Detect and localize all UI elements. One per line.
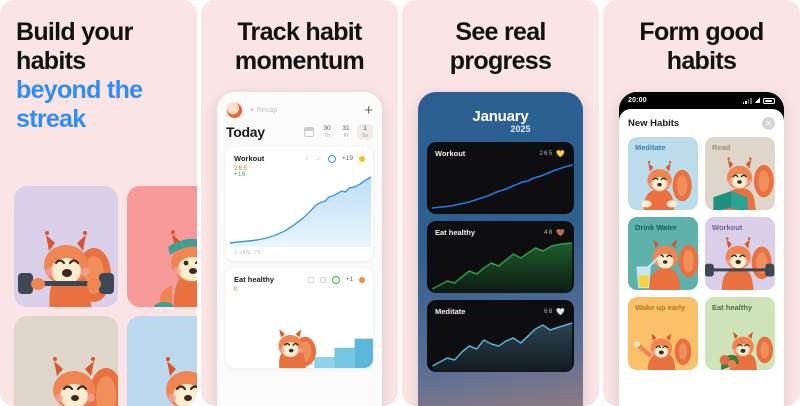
date-selector[interactable]: 30 Th 31 Fr 1 Sa (304, 124, 373, 140)
habit-tile-meditate (127, 316, 197, 406)
month-progress-screen: January 2025 Workout 265 💛 (418, 92, 583, 406)
date-number: 1 (357, 125, 373, 133)
squirrel-read-icon (708, 154, 775, 210)
value-number: 48 (544, 229, 553, 236)
workout-month-chart (427, 162, 574, 214)
squirrel-read-icon (28, 348, 118, 406)
habit-tile-run (127, 186, 197, 307)
squirrel-stairs-illustration (226, 298, 373, 368)
squirrel-workout-icon (16, 219, 116, 307)
cellular-signal-icon (743, 97, 752, 104)
habit-card-header: Eat healthy +1 (234, 275, 365, 284)
progress-card-header: Workout 265 💛 (435, 149, 566, 158)
habit-label: Drink Water (635, 223, 691, 232)
progress-card-eat-healthy[interactable]: Eat healthy 48 🤎 (427, 221, 574, 293)
month-label: January (427, 108, 574, 125)
habit-stat-value: 265 (234, 165, 365, 172)
phone-mockup-month: January 2025 Workout 265 💛 (418, 92, 583, 406)
new-habit-drink-water[interactable]: Drink Water (628, 217, 698, 290)
date-number: 31 (338, 125, 354, 133)
check-icon[interactable]: ✓ (304, 155, 310, 163)
headline-track-momentum: Track habit momentum (201, 0, 398, 76)
date-dow: Fr (338, 133, 354, 139)
recap-label: Recap (257, 107, 277, 114)
headline-line-4: streak (16, 105, 181, 134)
headline-line-1: Form good (613, 18, 790, 47)
squirrel-meditate-icon (141, 348, 197, 406)
heart-icon: 💛 (556, 150, 566, 158)
heart-icon: 🤍 (556, 308, 566, 316)
add-habit-button[interactable]: + (364, 103, 373, 118)
badge-icon (359, 277, 365, 283)
workout-sparkline-chart (226, 175, 373, 247)
headline-line-1: Track habit (211, 18, 388, 47)
habit-stats: 0 (234, 286, 365, 293)
habit-card-header: Workout ✓ ✓ +19 (234, 154, 365, 163)
sheet-title: New Habits (628, 118, 679, 129)
headline-line-2: habits (613, 47, 790, 76)
habit-value: 68 🤍 (544, 308, 566, 316)
headline-line-1: Build your (16, 18, 181, 47)
date-dow: Sa (357, 133, 373, 139)
check-icon[interactable]: ✓ (316, 155, 322, 163)
progress-card-header: Meditate 68 🤍 (435, 307, 566, 316)
headline-build-habits: Build your habits beyond the streak (0, 0, 197, 134)
new-habit-wake-up-early[interactable]: Wake up early (628, 297, 698, 370)
squirrel-workout-icon (705, 234, 775, 290)
avatar[interactable] (226, 102, 243, 119)
chart-x-label: 1 JAN '25 (234, 250, 261, 256)
month-header: January 2025 (427, 102, 574, 142)
headline-line-2: progress (412, 47, 589, 76)
headline-line-1: See real (412, 18, 589, 47)
progress-card-meditate[interactable]: Meditate 68 🤍 (427, 300, 574, 372)
headline-line-2: habits (16, 47, 181, 76)
meditate-month-chart (427, 320, 574, 372)
heart-icon: 🤎 (556, 229, 566, 237)
squirrel-meditate-icon (628, 156, 698, 210)
habit-card-grid (14, 186, 197, 406)
badge-icon (359, 156, 365, 162)
habit-marks: +1 (308, 276, 365, 284)
habit-marks: ✓ ✓ +19 (304, 155, 365, 163)
checkbox-icon[interactable] (320, 277, 326, 283)
new-habit-workout[interactable]: Workout (705, 217, 775, 290)
habit-gain: +1 (346, 276, 353, 283)
status-bar: 20:00 ◢ (619, 92, 784, 109)
habit-stat-value: 0 (234, 286, 365, 293)
new-habit-meditate[interactable]: Meditate (628, 137, 698, 210)
sheet-header: New Habits ✕ (628, 117, 775, 130)
squirrel-eat-healthy-icon (707, 330, 775, 370)
habit-label: Workout (712, 223, 768, 232)
habit-title: Workout (234, 154, 264, 163)
headline-line-3: beyond the (16, 76, 181, 105)
today-screen: ✦ Recap + Today 30 Th 31 (217, 92, 382, 406)
habit-tile-read (14, 316, 118, 406)
habit-value: 48 🤎 (544, 229, 566, 237)
habit-label: Eat healthy (712, 303, 768, 312)
headline-line-2: momentum (211, 47, 388, 76)
habit-label: Meditate (635, 143, 691, 152)
close-icon[interactable]: ✕ (762, 117, 775, 130)
new-habit-eat-healthy[interactable]: Eat healthy (705, 297, 775, 370)
recap-button[interactable]: ✦ Recap (249, 106, 277, 114)
squirrel-run-icon (144, 219, 197, 307)
date-cell-30[interactable]: 30 Th (319, 124, 335, 140)
habit-value: 265 💛 (539, 150, 566, 158)
habit-gain: +19 (342, 155, 353, 162)
habit-title: Eat healthy (234, 275, 274, 284)
value-number: 68 (544, 308, 553, 315)
date-cell-31[interactable]: 31 Fr (338, 124, 354, 140)
value-number: 265 (539, 150, 553, 157)
phone-mockup-new-habits: 20:00 ◢ New Habits ✕ Meditate (619, 92, 784, 406)
progress-card-header: Eat healthy 48 🤎 (435, 228, 566, 237)
date-number: 30 (319, 125, 335, 133)
habit-label: Wake up early (635, 303, 691, 312)
habit-card-eat-healthy[interactable]: Eat healthy +1 0 (226, 268, 373, 368)
today-header: Today 30 Th 31 Fr 1 Sa (226, 124, 373, 140)
habit-title: Eat healthy (435, 228, 475, 237)
panel-form-habits: Form good habits 20:00 ◢ New Habits ✕ (603, 0, 800, 406)
headline-see-progress: See real progress (402, 0, 599, 76)
squirrel-drink-water-icon (631, 234, 698, 290)
screenshot-gallery: Build your habits beyond the streak (0, 0, 800, 406)
checkbox-icon[interactable] (308, 277, 314, 283)
date-dow: Th (319, 133, 335, 139)
habit-title: Meditate (435, 307, 465, 316)
eat-healthy-month-chart (427, 241, 574, 293)
status-time: 20:00 (628, 97, 647, 104)
year-label: 2025 (427, 124, 574, 134)
progress-ring-icon[interactable] (332, 276, 340, 284)
panel-see-progress: See real progress January 2025 Workout 2… (402, 0, 599, 406)
habit-tile-workout (14, 186, 118, 307)
habit-title: Workout (435, 149, 465, 158)
battery-icon (763, 98, 775, 104)
wifi-icon: ◢ (755, 97, 760, 104)
habit-card-workout[interactable]: Workout ✓ ✓ +19 265 +18 (226, 147, 373, 261)
status-icons: ◢ (743, 97, 775, 104)
app-topbar: ✦ Recap + (226, 100, 373, 120)
page-title: Today (226, 124, 265, 140)
habit-label: Read (712, 143, 768, 152)
squirrel-wake-up-icon (628, 330, 698, 370)
progress-card-workout[interactable]: Workout 265 💛 (427, 142, 574, 214)
calendar-icon[interactable] (304, 127, 314, 137)
new-habits-sheet: New Habits ✕ Meditate (619, 109, 784, 406)
date-cell-1-selected[interactable]: 1 Sa (357, 124, 373, 140)
panel-track-momentum: Track habit momentum ✦ Recap + Today (201, 0, 398, 406)
phone-mockup-today: ✦ Recap + Today 30 Th 31 (217, 92, 382, 406)
new-habits-grid: Meditate (628, 137, 775, 370)
new-habit-read[interactable]: Read (705, 137, 775, 210)
sparkle-icon: ✦ (249, 106, 255, 114)
panel-build-habits: Build your habits beyond the streak (0, 0, 197, 406)
progress-ring-icon[interactable] (328, 155, 336, 163)
headline-form-habits: Form good habits (603, 0, 800, 76)
